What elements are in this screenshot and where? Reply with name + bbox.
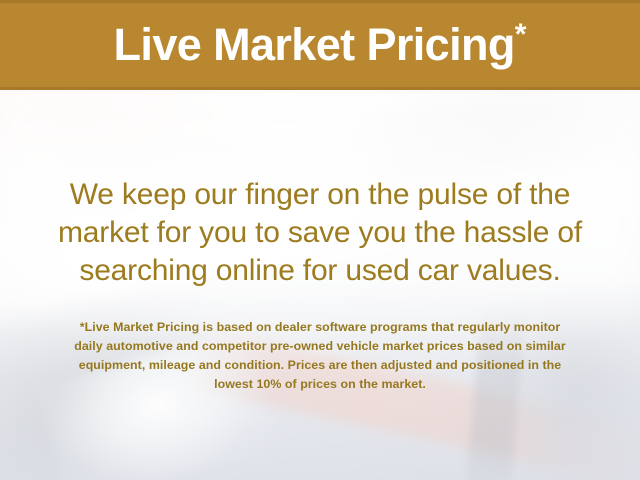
disclaimer-line-2: daily automotive and competitor pre-owne…	[0, 337, 640, 356]
disclaimer-line-3: equipment, mileage and condition. Prices…	[0, 356, 640, 375]
disclaimer-line-4: lowest 10% of prices on the market.	[0, 375, 640, 394]
disclaimer-line-1: *Live Market Pricing is based on dealer …	[0, 318, 640, 337]
headline-line-3: searching online for used car values.	[0, 252, 640, 290]
page-title-asterisk: *	[515, 18, 527, 51]
headline-line-1: We keep our finger on the pulse of the	[0, 176, 640, 214]
disclaimer-fineprint: *Live Market Pricing is based on dealer …	[0, 318, 640, 394]
page-title: Live Market Pricing*	[114, 20, 527, 70]
header-bar: Live Market Pricing*	[0, 0, 640, 90]
headline-line-2: market for you to save you the hassle of	[0, 214, 640, 252]
live-market-pricing-slide: Live Market Pricing* We keep our finger …	[0, 0, 640, 480]
headline: We keep our finger on the pulse of the m…	[0, 176, 640, 290]
page-title-text: Live Market Pricing	[114, 19, 515, 70]
